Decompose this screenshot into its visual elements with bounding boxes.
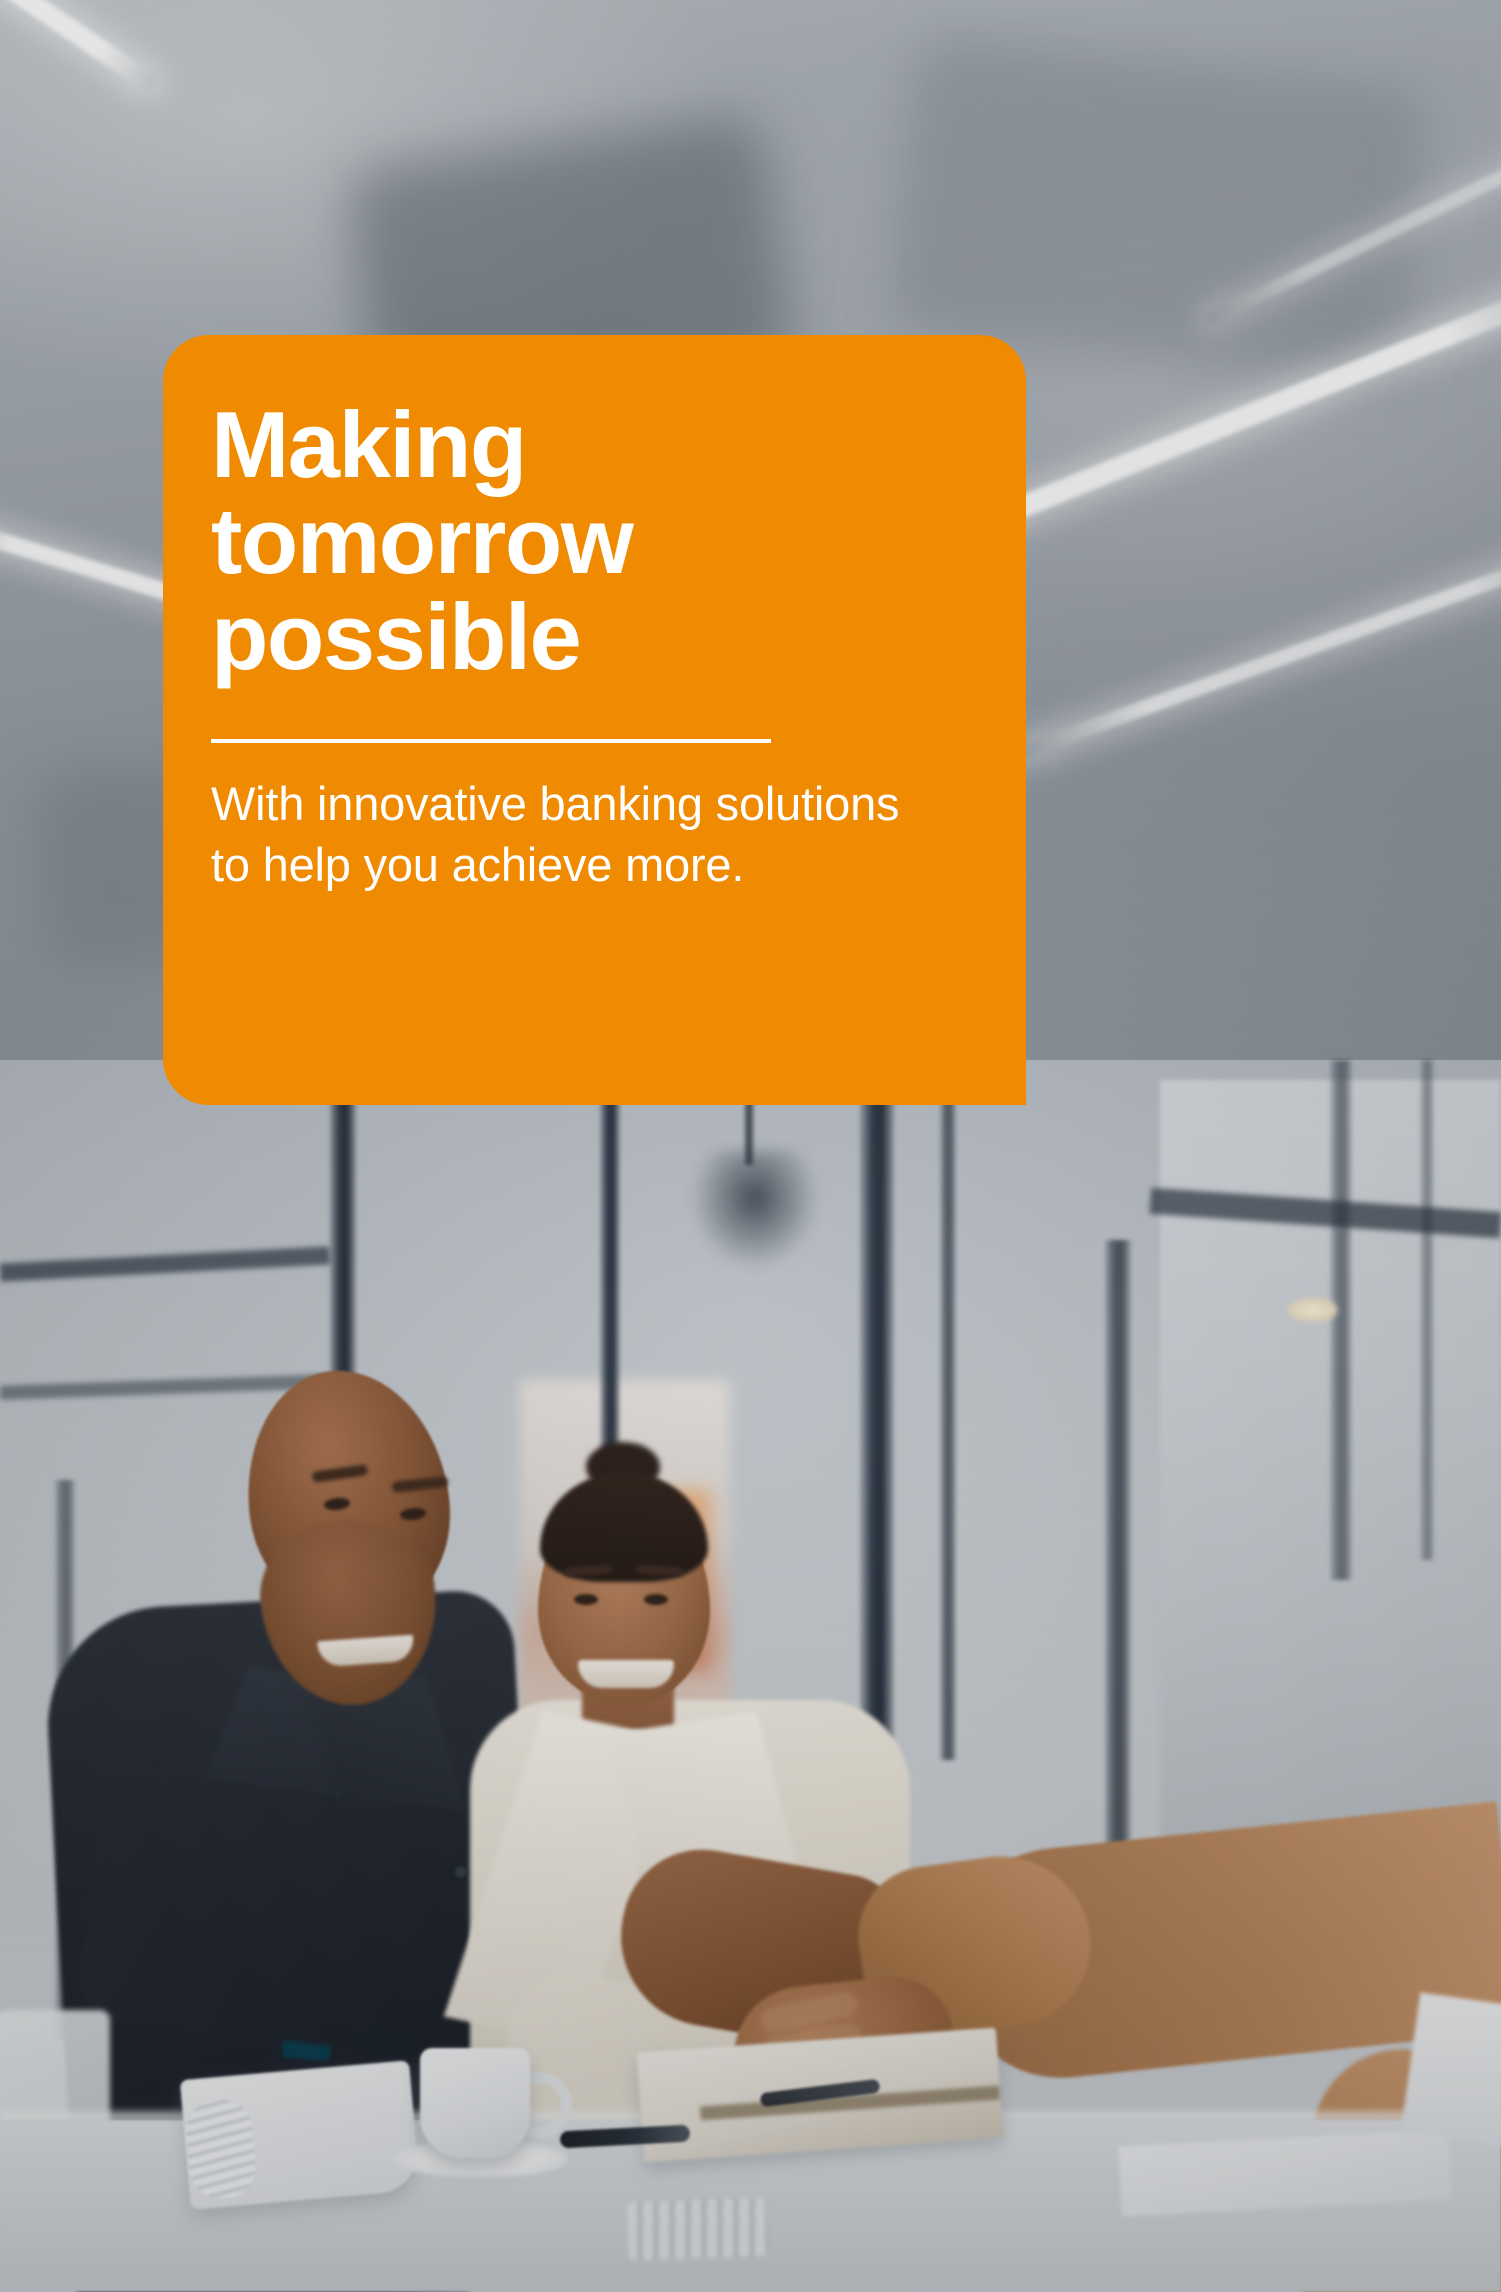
divider xyxy=(211,739,771,743)
subtitle: With innovative banking solutions to hel… xyxy=(211,773,968,895)
woman-eye xyxy=(574,1594,598,1605)
ceiling-beam xyxy=(886,34,1435,387)
woman-eye xyxy=(644,1594,668,1605)
page-title: Making tomorrow possible xyxy=(211,397,968,685)
headline-card: Making tomorrow possible With innovative… xyxy=(163,335,1026,1105)
window-mullion xyxy=(860,1060,894,1740)
window-mullion xyxy=(940,1060,956,1760)
woman-smile xyxy=(578,1660,674,1688)
rolled-documents-end xyxy=(184,2097,258,2200)
pendant-light xyxy=(690,1150,820,1270)
coffee-cup xyxy=(420,2048,530,2158)
window-mullion xyxy=(1420,1060,1434,1560)
pen-holder xyxy=(627,2198,769,2261)
ceiling-spotlight xyxy=(1288,1298,1338,1322)
marketing-poster: Making tomorrow possible With innovative… xyxy=(0,0,1501,2292)
window-mullion xyxy=(1330,1060,1352,1580)
window-mullion xyxy=(1105,1240,1131,1880)
